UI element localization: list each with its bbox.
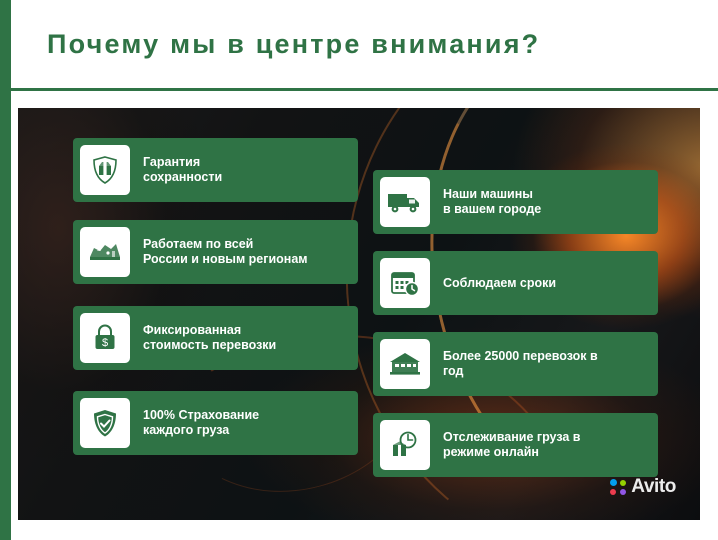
feature-card-volume: Более 25000 перевозок в год (373, 332, 658, 396)
feature-card-coverage: Работаем по всей России и новым регионам (73, 220, 358, 284)
map-russia-icon (80, 227, 130, 277)
feature-card-insurance: 100% Страхование каждого груза (73, 391, 358, 455)
feature-card-label: 100% Страхование каждого груза (130, 408, 269, 438)
feature-card-trucks: Наши машины в вашем городе (373, 170, 658, 234)
shield-box-icon (80, 145, 130, 195)
warehouse-icon (380, 339, 430, 389)
calendar-clock-icon (380, 258, 430, 308)
feature-card-tracking: Отслеживание груза в режиме онлайн (373, 413, 658, 477)
feature-card-label: Гарантия сохранности (130, 155, 232, 185)
feature-card-label: Работаем по всей России и новым регионам (130, 237, 318, 267)
feature-card-deadlines: Соблюдаем сроки (373, 251, 658, 315)
avito-watermark: Avito (610, 476, 676, 498)
slide: Почему мы в центре внимания? Гарантия со… (0, 0, 718, 540)
feature-card-label: Фиксированная стоимость перевозки (130, 323, 286, 353)
feature-card-guarantee: Гарантия сохранности (73, 138, 358, 202)
avito-watermark-text: Avito (631, 476, 676, 498)
left-accent-bar (0, 0, 11, 540)
lock-money-icon: $ (80, 313, 130, 363)
svg-text:$: $ (102, 337, 108, 349)
title-area: Почему мы в центре внимания? (11, 0, 718, 88)
feature-card-label: Более 25000 перевозок в год (430, 349, 608, 379)
feature-card-label: Наши машины в вашем городе (430, 187, 551, 217)
avito-logo-icon (610, 479, 627, 496)
feature-card-fixed-price: $ Фиксированная стоимость перевозки (73, 306, 358, 370)
feature-panel: Гарантия сохранности Работаем по всей Ро… (18, 108, 700, 520)
truck-icon (380, 177, 430, 227)
feature-card-label: Отслеживание груза в режиме онлайн (430, 430, 591, 460)
feature-card-label: Соблюдаем сроки (430, 276, 566, 291)
shield-check-icon (80, 398, 130, 448)
package-tracking-icon (380, 420, 430, 470)
page-title: Почему мы в центре внимания? (47, 29, 540, 60)
title-divider (11, 88, 718, 91)
